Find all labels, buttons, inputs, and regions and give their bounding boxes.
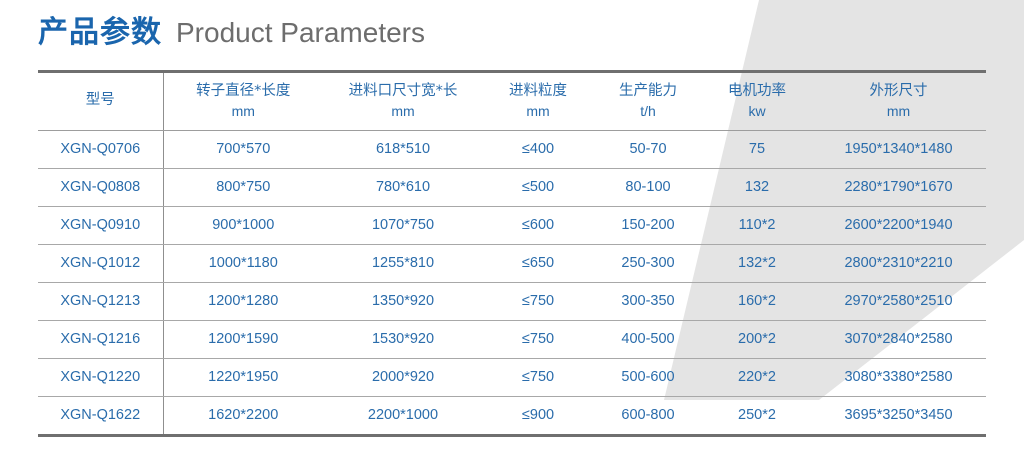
column-header-feed-particle-size: 进料粒度 mm [483,72,593,131]
cell-feed-particle-size: ≤650 [483,245,593,283]
specification-table: 型号 转子直径*长度 mm 进料口尺寸宽*长 mm 进料粒度 mm [38,70,986,437]
cell-rotor-diameter-length: 1620*2200 [163,397,323,436]
column-header-overall-dimensions-unit: mm [813,102,984,121]
table-row: XGN-Q0706700*570618*510≤40050-70751950*1… [38,131,986,169]
cell-rotor-diameter-length: 1220*1950 [163,359,323,397]
cell-rotor-diameter-length: 700*570 [163,131,323,169]
table-row: XGN-Q0910900*10001070*750≤600150-200110*… [38,207,986,245]
cell-capacity: 80-100 [593,169,703,207]
cell-feed-particle-size: ≤400 [483,131,593,169]
cell-model: XGN-Q1012 [38,245,163,283]
cell-motor-power: 250*2 [703,397,811,436]
column-header-capacity: 生产能力 t/h [593,72,703,131]
cell-feed-particle-size: ≤750 [483,283,593,321]
column-header-feed-opening-size: 进料口尺寸宽*长 mm [323,72,483,131]
page-title: 产品参数 Product Parameters [38,18,425,48]
cell-capacity: 300-350 [593,283,703,321]
cell-rotor-diameter-length: 1200*1590 [163,321,323,359]
column-header-feed-particle-size-label: 进料粒度 [485,82,591,102]
cell-motor-power: 75 [703,131,811,169]
cell-capacity: 50-70 [593,131,703,169]
table-row: XGN-Q12131200*12801350*920≤750300-350160… [38,283,986,321]
column-header-motor-power-unit: kw [705,102,809,121]
table-body: XGN-Q0706700*570618*510≤40050-70751950*1… [38,131,986,436]
cell-feed-opening-size: 1350*920 [323,283,483,321]
column-header-model-label: 型号 [40,91,161,111]
column-header-rotor-diameter-length: 转子直径*长度 mm [163,72,323,131]
specification-table-wrapper: 型号 转子直径*长度 mm 进料口尺寸宽*长 mm 进料粒度 mm [38,70,986,437]
cell-rotor-diameter-length: 1200*1280 [163,283,323,321]
cell-overall-dimensions: 2600*2200*1940 [811,207,986,245]
cell-overall-dimensions: 1950*1340*1480 [811,131,986,169]
cell-overall-dimensions: 2280*1790*1670 [811,169,986,207]
cell-feed-particle-size: ≤500 [483,169,593,207]
cell-feed-opening-size: 618*510 [323,131,483,169]
cell-feed-particle-size: ≤900 [483,397,593,436]
table-row: XGN-Q0808800*750780*610≤50080-1001322280… [38,169,986,207]
cell-model: XGN-Q0808 [38,169,163,207]
cell-capacity: 150-200 [593,207,703,245]
cell-motor-power: 132*2 [703,245,811,283]
column-header-feed-opening-size-unit: mm [325,102,481,121]
table-row: XGN-Q12201220*19502000*920≤750500-600220… [38,359,986,397]
column-header-model: 型号 [38,72,163,131]
cell-feed-particle-size: ≤750 [483,359,593,397]
table-row: XGN-Q10121000*11801255*810≤650250-300132… [38,245,986,283]
cell-feed-opening-size: 1070*750 [323,207,483,245]
cell-feed-particle-size: ≤750 [483,321,593,359]
column-header-feed-opening-size-label: 进料口尺寸宽*长 [325,82,481,102]
cell-model: XGN-Q1213 [38,283,163,321]
page-title-chinese: 产品参数 [38,18,162,48]
cell-feed-opening-size: 780*610 [323,169,483,207]
column-header-capacity-unit: t/h [595,102,701,121]
page-title-english: Product Parameters [176,19,425,47]
cell-motor-power: 200*2 [703,321,811,359]
column-header-motor-power: 电机功率 kw [703,72,811,131]
table-row: XGN-Q16221620*22002200*1000≤900600-80025… [38,397,986,436]
cell-overall-dimensions: 2800*2310*2210 [811,245,986,283]
table-header: 型号 转子直径*长度 mm 进料口尺寸宽*长 mm 进料粒度 mm [38,72,986,131]
cell-model: XGN-Q1220 [38,359,163,397]
cell-capacity: 500-600 [593,359,703,397]
cell-model: XGN-Q0706 [38,131,163,169]
table-row: XGN-Q12161200*15901530*920≤750400-500200… [38,321,986,359]
table-header-row: 型号 转子直径*长度 mm 进料口尺寸宽*长 mm 进料粒度 mm [38,72,986,131]
cell-overall-dimensions: 3080*3380*2580 [811,359,986,397]
cell-motor-power: 220*2 [703,359,811,397]
cell-feed-opening-size: 2200*1000 [323,397,483,436]
cell-overall-dimensions: 2970*2580*2510 [811,283,986,321]
cell-model: XGN-Q0910 [38,207,163,245]
column-header-overall-dimensions: 外形尺寸 mm [811,72,986,131]
column-header-motor-power-label: 电机功率 [705,82,809,102]
cell-overall-dimensions: 3695*3250*3450 [811,397,986,436]
cell-motor-power: 110*2 [703,207,811,245]
column-header-capacity-label: 生产能力 [595,82,701,102]
cell-capacity: 600-800 [593,397,703,436]
cell-rotor-diameter-length: 900*1000 [163,207,323,245]
cell-rotor-diameter-length: 1000*1180 [163,245,323,283]
column-header-rotor-diameter-length-label: 转子直径*长度 [166,82,322,102]
cell-motor-power: 160*2 [703,283,811,321]
cell-feed-particle-size: ≤600 [483,207,593,245]
column-header-rotor-diameter-length-unit: mm [166,102,322,121]
cell-motor-power: 132 [703,169,811,207]
cell-capacity: 400-500 [593,321,703,359]
cell-overall-dimensions: 3070*2840*2580 [811,321,986,359]
column-header-overall-dimensions-label: 外形尺寸 [813,82,984,102]
cell-rotor-diameter-length: 800*750 [163,169,323,207]
cell-feed-opening-size: 2000*920 [323,359,483,397]
cell-feed-opening-size: 1530*920 [323,321,483,359]
cell-feed-opening-size: 1255*810 [323,245,483,283]
cell-model: XGN-Q1622 [38,397,163,436]
cell-model: XGN-Q1216 [38,321,163,359]
column-header-feed-particle-size-unit: mm [485,102,591,121]
product-parameters-page: 产品参数 Product Parameters 型号 转子直径*长度 mm [0,0,1024,475]
cell-capacity: 250-300 [593,245,703,283]
